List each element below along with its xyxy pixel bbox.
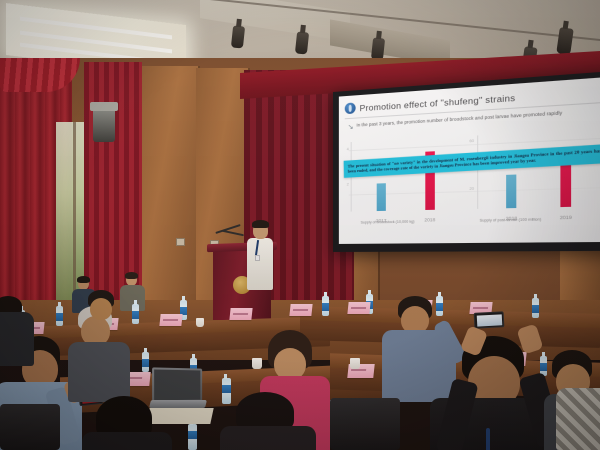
ceiling-spotlight-icon <box>295 31 309 54</box>
audience-lanyard <box>486 428 490 450</box>
slide-chart: 4 2 60 40 20 2017 2018 2018 <box>349 129 600 226</box>
chair <box>0 404 60 450</box>
water-bottle <box>132 304 139 324</box>
bar-label: 2018 <box>506 216 518 222</box>
paper-cup <box>196 318 204 327</box>
bar-label: 2018 <box>424 217 435 222</box>
audience-torso <box>556 388 600 450</box>
audience-head <box>90 298 112 320</box>
laptop-screen[interactable] <box>152 367 202 402</box>
name-card <box>229 308 252 320</box>
audience-torso <box>220 426 316 450</box>
audience-torso <box>0 312 34 366</box>
bar-label: 2017 <box>376 218 386 223</box>
wall-outlet <box>176 238 185 246</box>
paper-cup <box>252 358 262 369</box>
audience-torso <box>68 342 130 402</box>
chart-caption-left: Supply of broodstock (10,000 kg) <box>361 220 415 225</box>
name-card <box>347 302 370 314</box>
water-bottle <box>532 298 539 318</box>
chair <box>330 398 400 450</box>
water-bottle <box>322 296 329 316</box>
water-bottle <box>188 424 197 450</box>
water-bottle <box>142 352 149 372</box>
water-bottle <box>436 296 443 316</box>
ceiling-spotlight-icon <box>556 27 573 55</box>
ceiling-spotlight-icon <box>231 25 245 48</box>
y-tick-label: 20 <box>469 187 474 191</box>
wall-speaker-icon <box>93 108 115 142</box>
paper-cup <box>350 358 360 369</box>
conference-photo-scene: Promotion effect of "shufeng" strains ↘ … <box>0 0 600 450</box>
water-bottle <box>222 378 231 404</box>
presentation-slide: Promotion effect of "shufeng" strains ↘ … <box>339 77 600 244</box>
y-tick-label: 60 <box>469 139 474 143</box>
speaker-hair <box>252 220 269 228</box>
paper-notepad <box>146 408 213 424</box>
laptop-keyboard[interactable] <box>149 400 207 408</box>
slide-logo-icon <box>345 102 356 114</box>
y-tick-label: 2 <box>347 182 349 186</box>
speaker-badge <box>255 255 260 261</box>
bar-2017: 2017 <box>377 183 386 211</box>
arrow-down-marker-icon: ↘ <box>348 124 354 131</box>
name-card <box>289 304 312 316</box>
bar-label: 2019 <box>560 215 572 221</box>
y-tick-label: 4 <box>347 147 349 151</box>
slide-bullet-text: In the past 3 years, the promotion numbe… <box>357 110 563 130</box>
name-card <box>159 314 182 326</box>
bar-2018: 2018 <box>506 174 516 208</box>
water-bottle <box>56 306 63 326</box>
speaker-torso <box>247 238 273 290</box>
smartphone[interactable] <box>474 311 505 329</box>
projection-screen: Promotion effect of "shufeng" strains ↘ … <box>333 70 600 252</box>
wood-wall-panel <box>138 66 200 316</box>
audience-torso <box>82 432 172 450</box>
